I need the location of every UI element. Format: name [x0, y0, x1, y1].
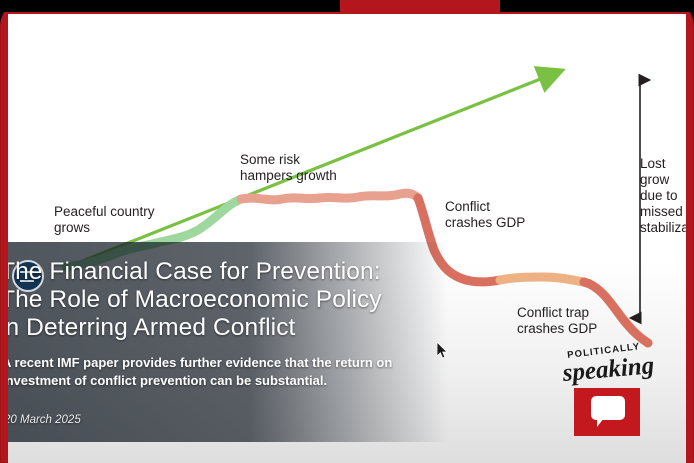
mouse-pointer-icon — [437, 342, 449, 360]
path-segment-some-risk — [241, 193, 418, 200]
slide-date: 20 March 2025 — [8, 414, 81, 426]
presentation-slide: Peaceful country grows Some risk hampers… — [8, 14, 686, 463]
slide-subtitle: A recent IMF paper provides further evid… — [8, 354, 414, 390]
path-segment-conflict-trap — [500, 277, 584, 282]
logo-red-square — [574, 388, 640, 436]
video-player-frame: Peaceful country grows Some risk hampers… — [0, 0, 694, 463]
politically-speaking-logo: POLITICALLY speaking — [562, 350, 668, 436]
chart-annotation-conflict-trap-crashes-gdp: Conflict trap crashes GDP — [517, 305, 597, 337]
chart-annotation-some-risk-hampers-growth: Some risk hampers growth — [240, 152, 337, 184]
chart-annotation-conflict-crashes-gdp: Conflict crashes GDP — [445, 199, 525, 231]
top-red-sliver — [340, 0, 500, 12]
speech-bubble-icon — [591, 396, 625, 420]
chart-annotation-peaceful-country-grows: Peaceful country grows — [54, 204, 155, 236]
slide-title: The Financial Case for Prevention: The R… — [8, 258, 430, 342]
chart-annotation-lost-growth: Lost grow due to missed stabiliza — [640, 156, 686, 236]
